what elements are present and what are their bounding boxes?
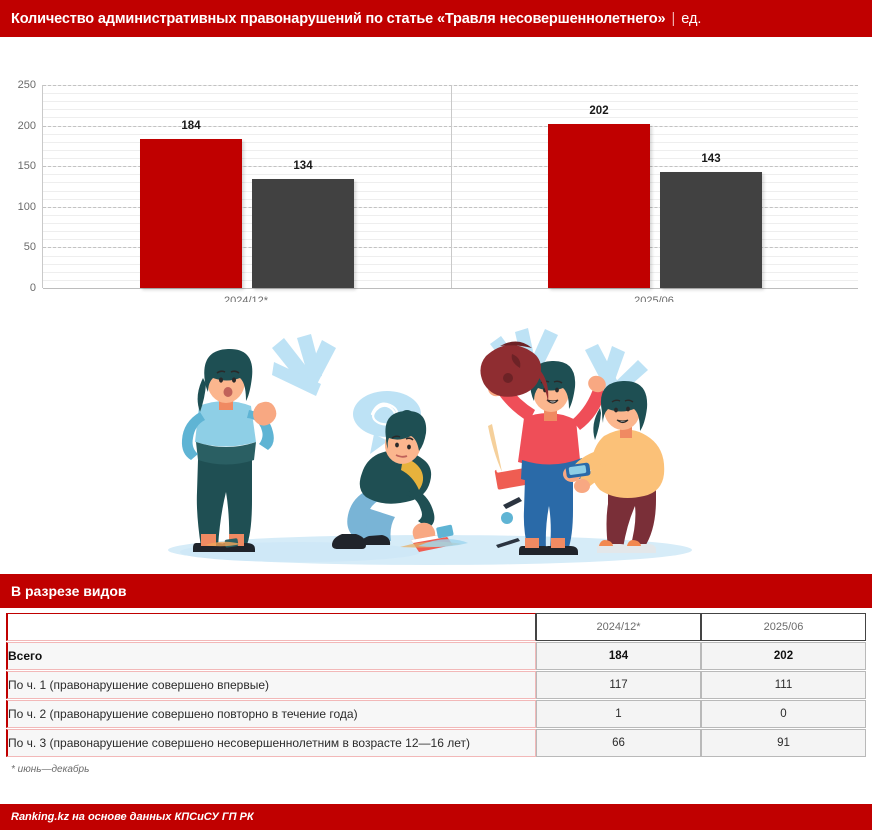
table-row: По ч. 2 (правонарушение совершено повтор…	[6, 700, 866, 728]
figure-shouting-girl	[182, 349, 276, 552]
table-cell-name: Всего	[6, 642, 536, 670]
source-text: Ranking.kz на основе данных КПСиСУ ГП РК	[11, 811, 254, 823]
illustration-bullying	[0, 302, 872, 574]
table-cell-name: По ч. 3 (правонарушение совершено несове…	[6, 729, 536, 757]
bar-total[interactable]	[140, 139, 242, 288]
title-unit: ед.	[681, 11, 701, 27]
table-cell-value-2: 91	[701, 729, 866, 757]
table-body: Всего184202По ч. 1 (правонарушение совер…	[6, 642, 866, 757]
bar-women[interactable]	[660, 172, 762, 288]
table-cell-value-1: 66	[536, 729, 701, 757]
gridline-major	[43, 288, 858, 289]
table-col-header-name	[6, 613, 536, 641]
bar-women[interactable]	[252, 179, 354, 288]
table-cell-value-1: 1	[536, 700, 701, 728]
table-cell-value-2: 0	[701, 700, 866, 728]
y-axis-tick-label: 100	[0, 201, 36, 213]
bullying-illustration-svg	[0, 302, 872, 574]
table-row: По ч. 1 (правонарушение совершено впервы…	[6, 671, 866, 699]
bar-value-label: 202	[548, 105, 650, 117]
table-cell-value-1: 117	[536, 671, 701, 699]
table-cell-value-1: 184	[536, 642, 701, 670]
category-divider	[451, 85, 452, 288]
table-col-header-period-1: 2024/12*	[536, 613, 701, 641]
bar-value-label: 143	[660, 153, 762, 165]
section-title: В разрезе видов	[11, 583, 127, 599]
table-header-row: 2024/12* 2025/06	[6, 613, 866, 641]
chart-canvas: 050100150200250 184134202143 2024/12*202…	[0, 37, 872, 302]
bar-value-label: 184	[140, 120, 242, 132]
y-axis-tick-label: 200	[0, 120, 36, 132]
table-cell-value-2: 202	[701, 642, 866, 670]
y-axis-tick-label: 0	[0, 282, 36, 294]
bar-value-label: 134	[252, 160, 354, 172]
figure-filming-girl	[563, 381, 664, 553]
source-bar: Ranking.kz на основе данных КПСиСУ ГП РК	[0, 804, 872, 830]
table-cell-name: По ч. 2 (правонарушение совершено повтор…	[6, 700, 536, 728]
table-head: 2024/12* 2025/06	[6, 613, 866, 641]
table-col-header-period-2: 2025/06	[701, 613, 866, 641]
section-header: В разрезе видов	[0, 574, 872, 608]
y-axis: 050100150200250	[0, 85, 36, 288]
table-row: Всего184202	[6, 642, 866, 670]
y-axis-tick-label: 50	[0, 241, 36, 253]
bar-chart: 050100150200250 184134202143 2024/12*202…	[0, 37, 872, 302]
table-cell-name: По ч. 1 (правонарушение совершено впервы…	[6, 671, 536, 699]
table-cell-value-2: 111	[701, 671, 866, 699]
breakdown-table: 2024/12* 2025/06 Всего184202По ч. 1 (пра…	[6, 612, 866, 758]
bar-total[interactable]	[548, 124, 650, 288]
y-axis-tick-label: 150	[0, 160, 36, 172]
title-separator: |	[671, 11, 675, 27]
page-title-bar: Количество административных правонарушен…	[0, 0, 872, 37]
y-axis-tick-label: 250	[0, 79, 36, 91]
page-title: Количество административных правонарушен…	[11, 11, 665, 27]
footnote: * июнь—декабрь	[0, 758, 872, 775]
table-row: По ч. 3 (правонарушение совершено несове…	[6, 729, 866, 757]
breakdown-table-wrap: 2024/12* 2025/06 Всего184202По ч. 1 (пра…	[0, 608, 872, 758]
plot-area: 184134202143	[42, 85, 858, 288]
